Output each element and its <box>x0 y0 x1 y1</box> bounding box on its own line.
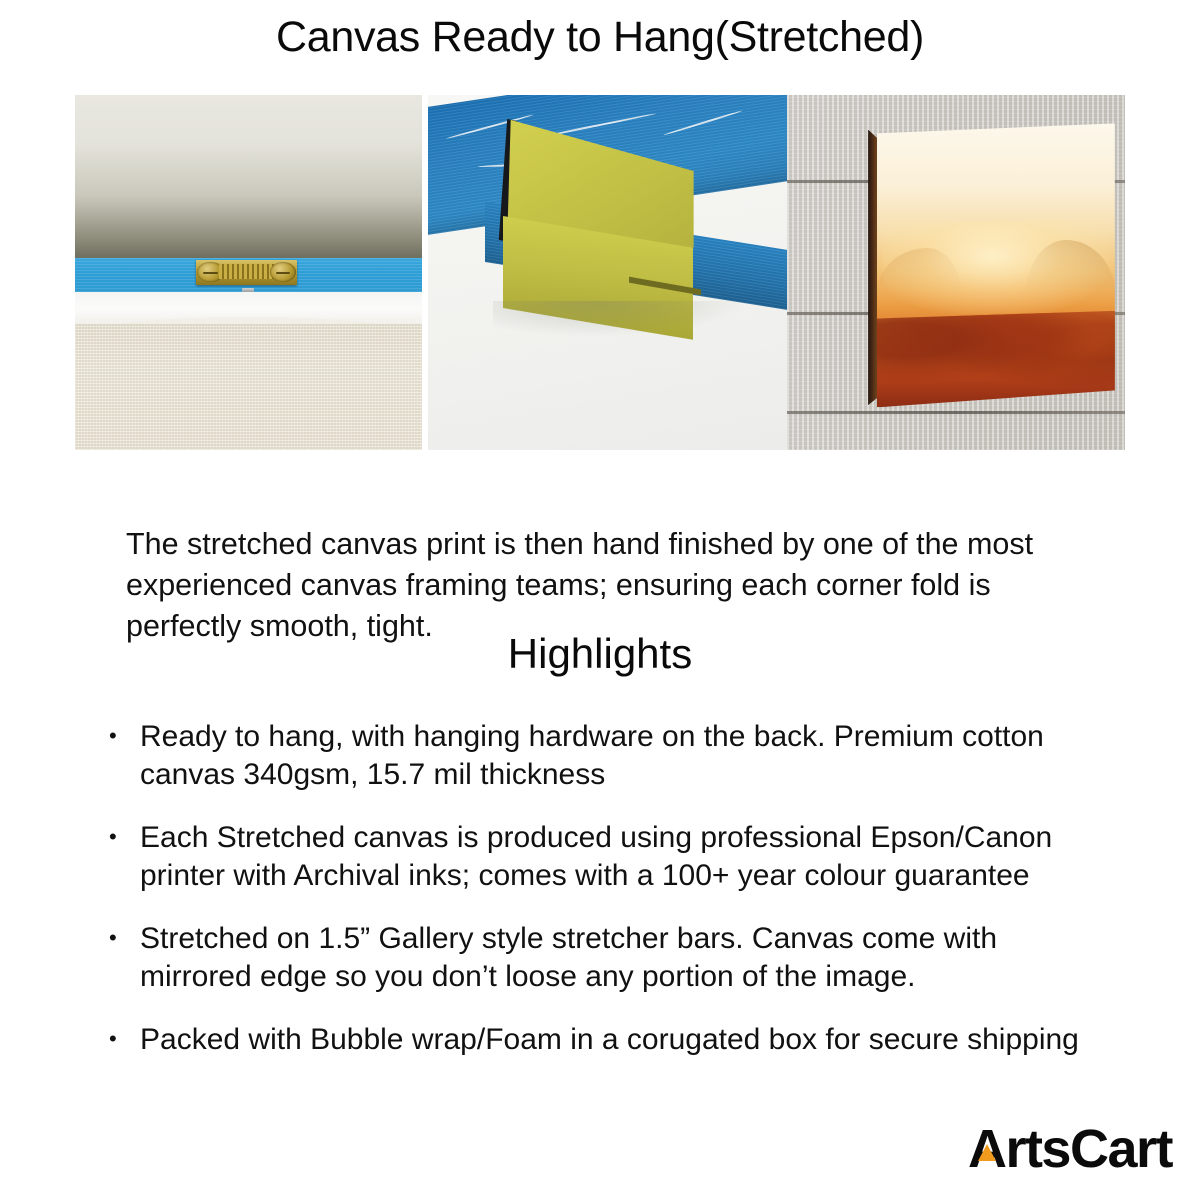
brushstroke-wisp <box>623 95 727 96</box>
product-image-strip <box>75 95 1125 450</box>
highlights-list: Ready to hang, with hanging hardware on … <box>104 718 1114 1084</box>
wall-backdrop <box>75 95 422 258</box>
brushstroke-wisp <box>663 110 743 136</box>
page-title: Canvas Ready to Hang(Stretched) <box>0 14 1200 61</box>
mounted-canvas-artwork <box>868 123 1115 407</box>
list-item: Stretched on 1.5” Gallery style stretche… <box>104 920 1114 996</box>
logo-letter-a: A <box>968 1122 1006 1176</box>
list-item: Each Stretched canvas is produced using … <box>104 819 1114 895</box>
hanger-hook <box>242 288 254 292</box>
print-foreground-trees <box>877 311 1115 408</box>
hanger-teeth <box>219 264 275 279</box>
hanger-screw-right <box>270 263 296 283</box>
panel-canvas-back-hanger <box>75 95 422 450</box>
list-item: Ready to hang, with hanging hardware on … <box>104 718 1114 794</box>
print-sun-haze <box>883 220 1110 317</box>
panel-hung-canvas <box>787 95 1125 450</box>
panel-corner-fold-detail <box>428 95 787 450</box>
artscart-logo: A rtsCart <box>968 1122 1172 1176</box>
orange-triangle-icon <box>978 1144 996 1161</box>
list-item: Packed with Bubble wrap/Foam in a coruga… <box>104 1021 1114 1059</box>
canvas-drop-shadow <box>493 301 744 337</box>
highlights-heading: Highlights <box>0 630 1200 678</box>
sawtooth-hanger-icon <box>196 260 297 286</box>
canvas-cotton-face <box>75 324 422 450</box>
product-description-paragraph: The stretched canvas print is then hand … <box>126 524 1086 647</box>
plank-seam <box>787 411 1125 414</box>
logo-wordmark-rest: rtsCart <box>1005 1122 1172 1176</box>
